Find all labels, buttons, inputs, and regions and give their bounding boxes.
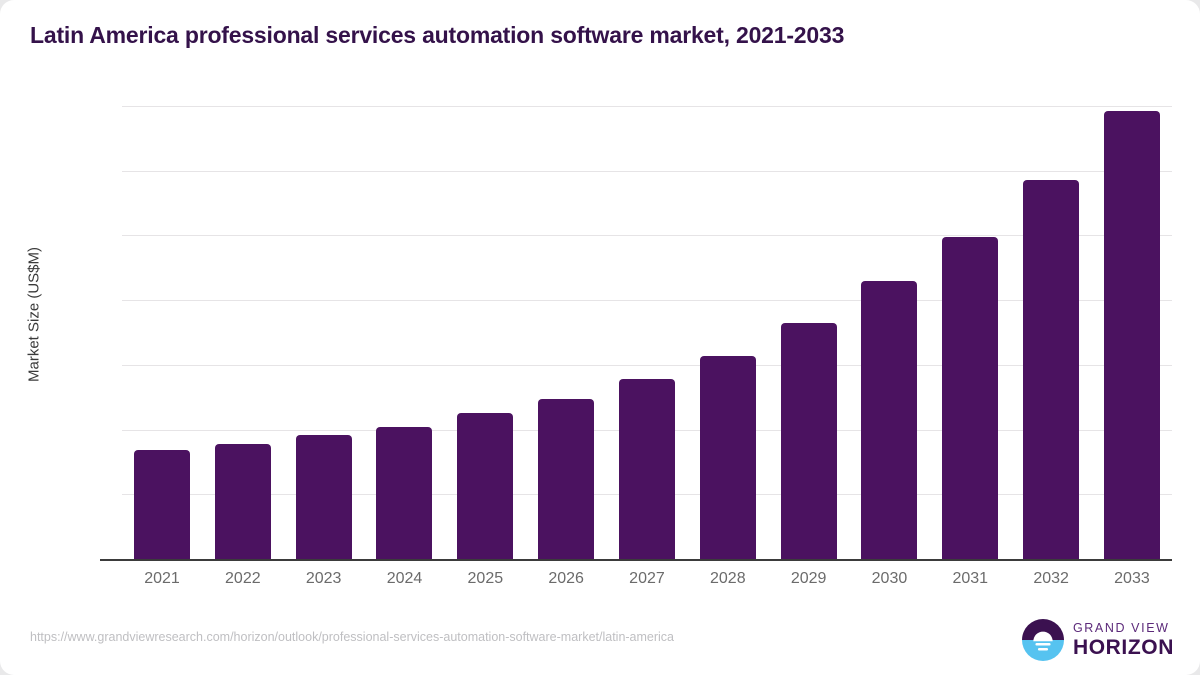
x-tick-label: 2026	[526, 570, 606, 588]
bar-2029[interactable]	[781, 323, 837, 559]
bar-2021[interactable]	[134, 450, 190, 559]
bar-slot	[445, 106, 525, 559]
bar-2026[interactable]	[538, 399, 594, 559]
x-tick-label: 2021	[122, 570, 202, 588]
x-tick-label: 2031	[930, 570, 1010, 588]
chart-card: Latin America professional services auto…	[0, 0, 1200, 675]
logo-wordmark: GRAND VIEW HORIZON	[1073, 622, 1174, 659]
bar-slot	[284, 106, 364, 559]
bar-slot	[930, 106, 1010, 559]
bar-2022[interactable]	[215, 444, 271, 559]
x-tick-label: 2022	[203, 570, 283, 588]
bar-slot	[1092, 106, 1172, 559]
bar-2033[interactable]	[1104, 111, 1160, 559]
horizon-circle-icon	[1022, 619, 1064, 661]
source-url[interactable]: https://www.grandviewresearch.com/horizo…	[30, 630, 674, 644]
x-tick-label: 2028	[688, 570, 768, 588]
x-axis-tick-labels: 2021202220232024202520262027202820292030…	[122, 570, 1172, 588]
logo-bottom-text: HORIZON	[1073, 637, 1174, 658]
x-tick-label: 2029	[769, 570, 849, 588]
bar-slot	[769, 106, 849, 559]
bar-slot	[688, 106, 768, 559]
grand-view-horizon-logo[interactable]: GRAND VIEW HORIZON	[1022, 618, 1174, 662]
bar-series	[122, 106, 1172, 559]
bar-2032[interactable]	[1023, 180, 1079, 559]
x-tick-label: 2030	[849, 570, 929, 588]
bar-2028[interactable]	[700, 356, 756, 559]
x-axis-line	[100, 559, 1172, 561]
x-tick-label: 2027	[607, 570, 687, 588]
bar-slot	[849, 106, 929, 559]
x-tick-label: 2032	[1011, 570, 1091, 588]
x-tick-label: 2033	[1092, 570, 1172, 588]
x-tick-label: 2023	[284, 570, 364, 588]
x-tick-label: 2024	[364, 570, 444, 588]
y-axis-title: Market Size (US$M)	[26, 115, 43, 515]
chart-title: Latin America professional services auto…	[30, 22, 844, 49]
bar-slot	[122, 106, 202, 559]
bar-slot	[203, 106, 283, 559]
bar-slot	[1011, 106, 1091, 559]
bar-2024[interactable]	[376, 427, 432, 559]
bar-2031[interactable]	[942, 237, 998, 559]
x-tick-label: 2025	[445, 570, 525, 588]
bar-slot	[364, 106, 444, 559]
bar-2025[interactable]	[457, 413, 513, 559]
bar-slot	[607, 106, 687, 559]
bar-2030[interactable]	[861, 281, 917, 559]
bar-2023[interactable]	[296, 435, 352, 559]
bar-2027[interactable]	[619, 379, 675, 559]
plot-area: Market Size (US$M) 050010001500200025003…	[0, 78, 1200, 598]
bar-slot	[526, 106, 606, 559]
logo-top-text: GRAND VIEW	[1073, 622, 1174, 635]
